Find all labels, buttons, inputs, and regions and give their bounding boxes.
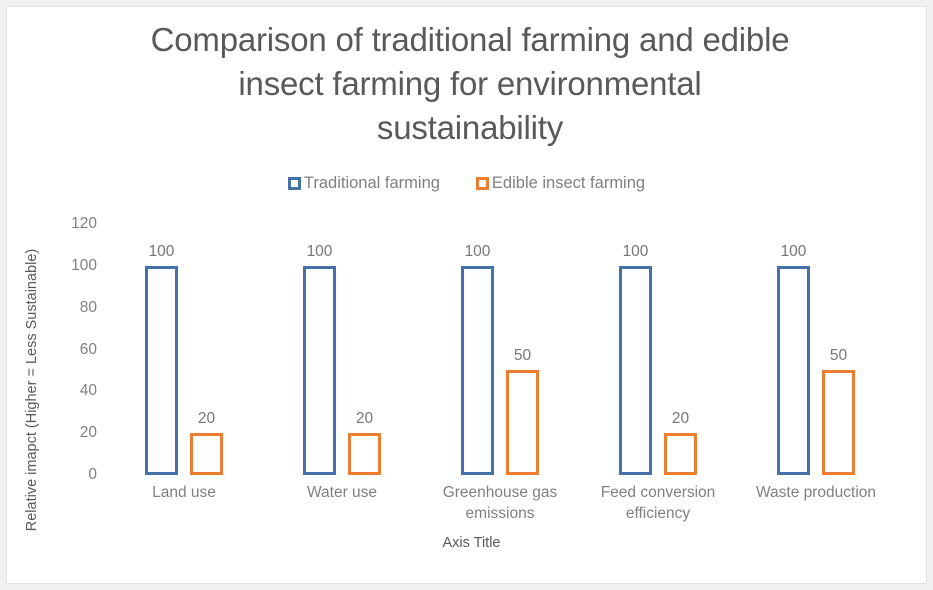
bar-value-label: 50	[830, 347, 847, 365]
y-axis-tick-100: 100	[55, 258, 97, 274]
legend-item-edible-insect-farming[interactable]: Edible insect farming	[476, 174, 645, 192]
chart-canvas: Comparison of traditional farming and ed…	[0, 0, 933, 590]
y-axis-tick-labels: 120100806040200	[55, 216, 97, 484]
bar-group-2: 10050	[421, 224, 579, 475]
bar-traditional-2[interactable]: 100	[461, 266, 494, 475]
bar-edible-insect-0[interactable]: 20	[190, 433, 223, 475]
y-axis-tick-80: 80	[55, 300, 97, 316]
bar-group-bars: 10020	[263, 224, 421, 475]
bar-traditional-3[interactable]: 100	[619, 266, 652, 475]
chart-legend: Traditional farming Edible insect farmin…	[0, 174, 933, 192]
bar-value-label: 100	[465, 243, 491, 261]
x-axis-label-line: Feed conversion	[579, 482, 737, 503]
chart-title-line-1: Comparison of traditional farming and ed…	[70, 18, 870, 62]
legend-label-traditional-farming: Traditional farming	[304, 174, 440, 192]
chart-title-line-3: sustainability	[70, 106, 870, 150]
x-axis-label-3: Feed conversionefficiency	[579, 482, 737, 524]
x-axis-label-line: Water use	[263, 482, 421, 503]
y-axis-title: Relative imapct (Higher = Less Sustainab…	[21, 220, 43, 560]
bar-value-label: 20	[198, 410, 215, 428]
bar-group-4: 10050	[737, 224, 895, 475]
bar-value-label: 50	[514, 347, 531, 365]
y-axis-tick-60: 60	[55, 342, 97, 358]
chart-title: Comparison of traditional farming and ed…	[70, 18, 870, 150]
x-axis-label-4: Waste production	[737, 482, 895, 503]
x-axis-label-2: Greenhouse gasemissions	[421, 482, 579, 524]
plot-area: 1002010020100501002010050	[105, 224, 895, 475]
bar-value-label: 100	[623, 243, 649, 261]
x-axis-label-1: Water use	[263, 482, 421, 503]
bar-value-label: 20	[672, 410, 689, 428]
chart-title-line-2: insect farming for environmental	[70, 62, 870, 106]
bar-traditional-4[interactable]: 100	[777, 266, 810, 475]
bar-group-bars: 10020	[105, 224, 263, 475]
bar-edible-insect-4[interactable]: 50	[822, 370, 855, 475]
bar-group-bars: 10050	[421, 224, 579, 475]
bar-group-bars: 10050	[737, 224, 895, 475]
legend-label-edible-insect-farming: Edible insect farming	[492, 174, 645, 192]
legend-swatch-icon-traditional-farming	[288, 177, 301, 190]
bar-value-label: 100	[781, 243, 807, 261]
bar-value-label: 100	[307, 243, 333, 261]
legend-swatch-icon-edible-insect-farming	[476, 177, 489, 190]
x-axis-label-0: Land use	[105, 482, 263, 503]
y-axis-tick-20: 20	[55, 425, 97, 441]
bar-edible-insect-2[interactable]: 50	[506, 370, 539, 475]
bar-value-label: 100	[149, 243, 175, 261]
x-axis-label-line: efficiency	[579, 503, 737, 524]
x-axis-label-line: Greenhouse gas	[421, 482, 579, 503]
bar-edible-insect-1[interactable]: 20	[348, 433, 381, 475]
bar-traditional-1[interactable]: 100	[303, 266, 336, 475]
legend-item-traditional-farming[interactable]: Traditional farming	[288, 174, 440, 192]
x-axis-title: Axis Title	[0, 533, 933, 553]
y-axis-tick-40: 40	[55, 383, 97, 399]
bar-traditional-0[interactable]: 100	[145, 266, 178, 475]
bar-group-bars: 10020	[579, 224, 737, 475]
y-axis-tick-0: 0	[55, 467, 97, 483]
bar-group-1: 10020	[263, 224, 421, 475]
y-axis-tick-120: 120	[55, 216, 97, 232]
bar-value-label: 20	[356, 410, 373, 428]
bar-group-3: 10020	[579, 224, 737, 475]
x-axis-label-line: emissions	[421, 503, 579, 524]
bar-edible-insect-3[interactable]: 20	[664, 433, 697, 475]
x-axis-label-line: Land use	[105, 482, 263, 503]
x-axis-category-labels: Land useWater useGreenhouse gasemissions…	[105, 482, 895, 532]
x-axis-label-line: Waste production	[737, 482, 895, 503]
bar-group-0: 10020	[105, 224, 263, 475]
